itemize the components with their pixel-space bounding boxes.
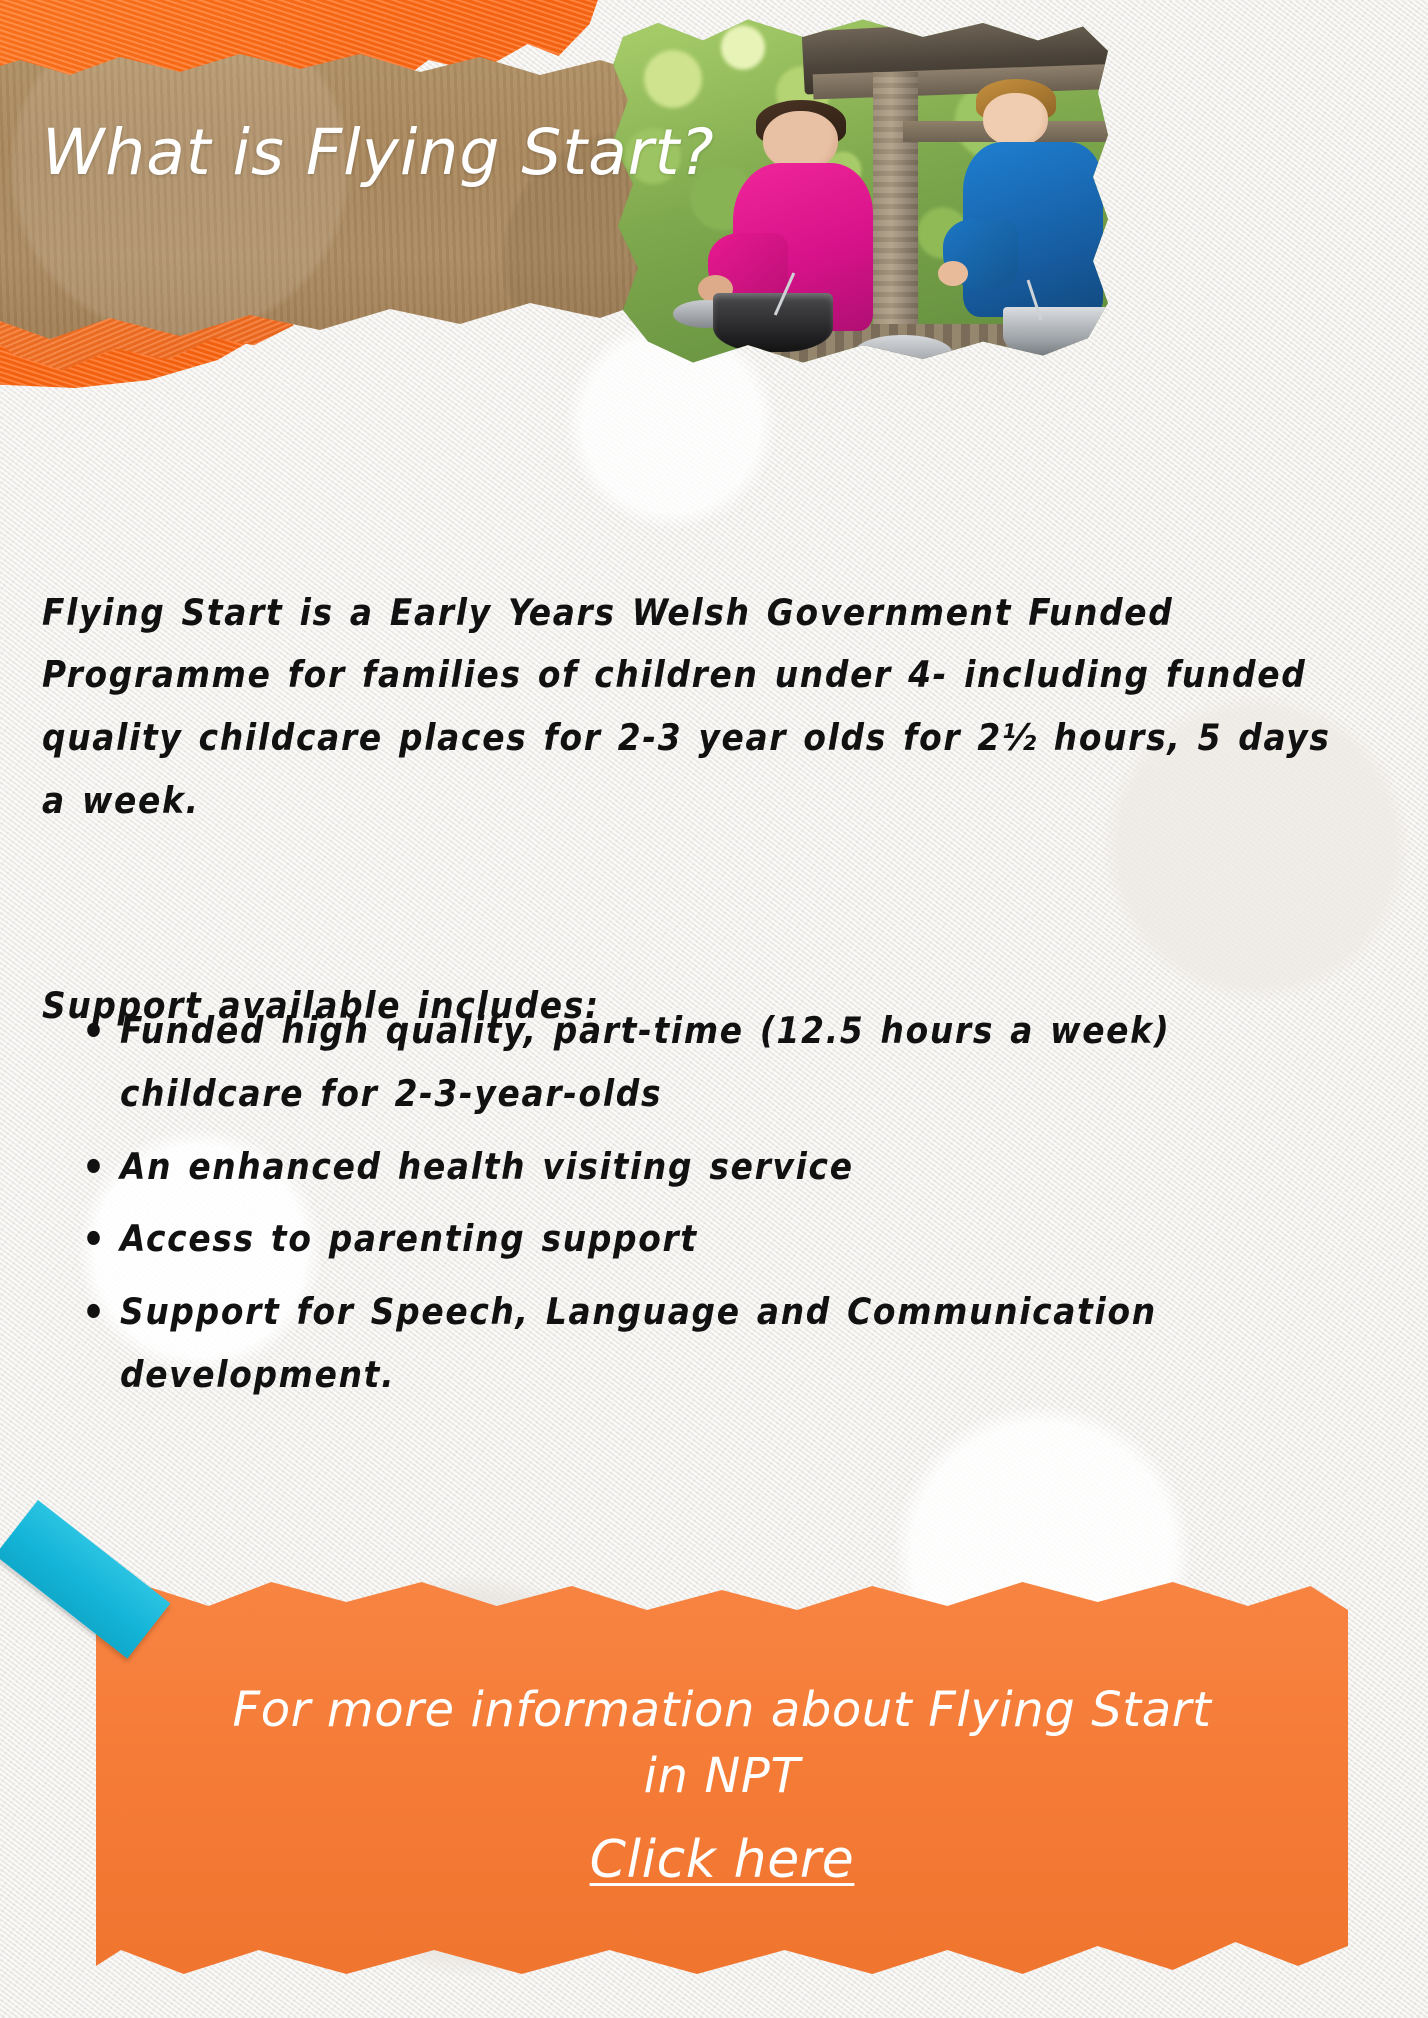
page-title: What is Flying Start? [42,120,802,186]
poster-page: What is Flying Start? Flying Start is a … [0,0,1428,2018]
list-item: An enhanced health visiting service [120,1136,1370,1199]
boy-hand [938,261,968,286]
wooden-post [873,72,918,366]
boy-head [983,93,1048,146]
list-item: Access to parenting support [120,1208,1370,1271]
photo-inner [613,16,1113,366]
click-here-link[interactable]: Click here [590,1825,855,1897]
list-item: Support for Speech, Language and Communi… [120,1281,1370,1407]
footer-info-text: For more information about Flying Start … [232,1677,1212,1809]
support-list: Funded high quality, part-time (12.5 hou… [72,1000,1370,1417]
black-pot [713,293,833,353]
children-mud-kitchen-photo [613,16,1113,366]
intro-paragraph: Flying Start is a Early Years Welsh Gove… [42,582,1332,833]
list-item: Funded high quality, part-time (12.5 hou… [120,1000,1370,1126]
footer-cta-block[interactable]: For more information about Flying Start … [96,1578,1348,1978]
